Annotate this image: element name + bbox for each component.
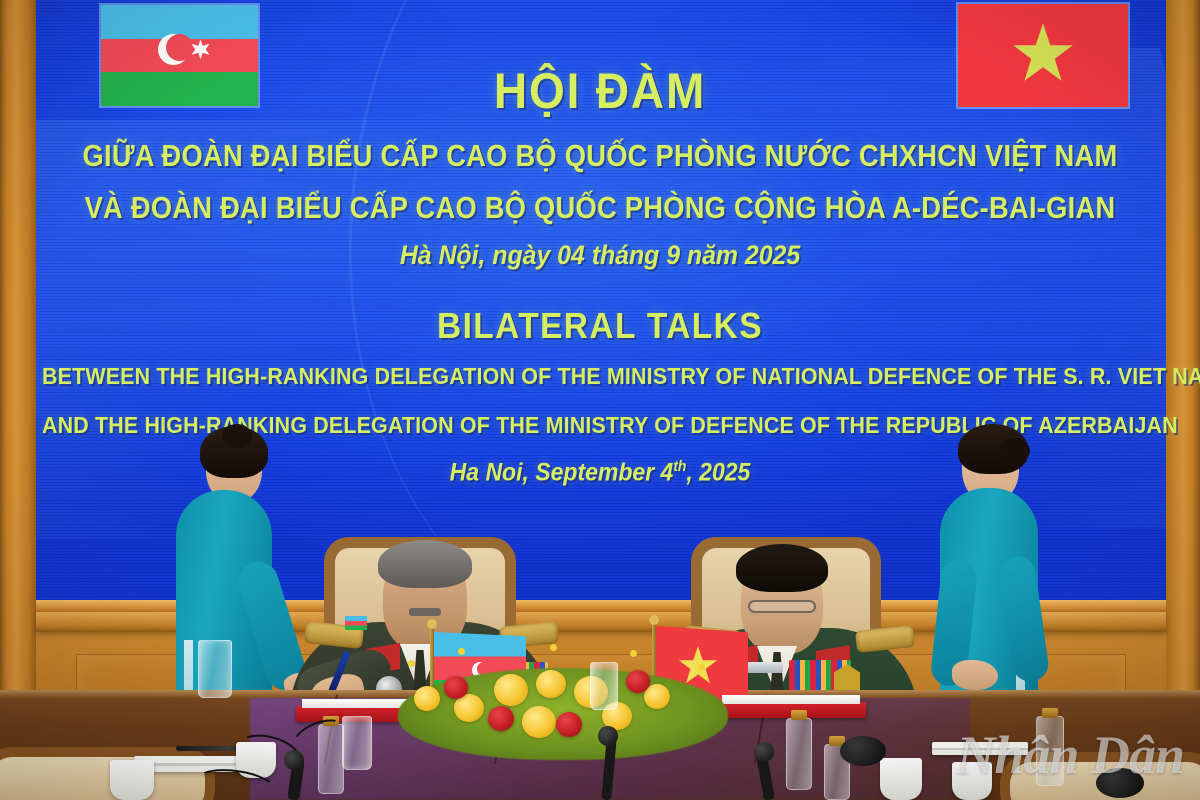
yellow-rose xyxy=(536,670,566,698)
hostess-right-hands xyxy=(952,660,998,690)
az-minister-flag-patch xyxy=(345,616,367,630)
banner-title-vietnamese: HỘI ĐÀM xyxy=(48,62,1152,120)
banner-date-vietnamese: Hà Nội, ngày 04 tháng 9 năm 2025 xyxy=(48,240,1152,271)
hostess-left-bun xyxy=(222,424,252,448)
water-glass xyxy=(198,640,232,698)
flower-sprig xyxy=(408,660,415,667)
headphone-earcup xyxy=(840,736,886,766)
vn-minister-hair xyxy=(736,544,828,592)
microphone-head xyxy=(754,742,774,762)
bottle-cap xyxy=(1042,708,1058,718)
red-rose xyxy=(556,712,582,737)
az-minister-hair xyxy=(378,540,472,588)
publisher-watermark: Nhân Dân xyxy=(956,724,1184,786)
water-glass xyxy=(342,716,372,770)
water-glass xyxy=(590,662,618,710)
folder-paper xyxy=(722,695,860,704)
banner-title-english: BILATERAL TALKS xyxy=(42,305,1158,347)
yellow-rose xyxy=(522,706,556,738)
tea-cup xyxy=(880,758,922,800)
red-rose xyxy=(444,676,468,699)
banner-line-vietnamese-1: GIỮA ĐOÀN ĐẠI BIỂU CẤP CAO BỘ QUỐC PHÒNG… xyxy=(72,138,1128,174)
crescent-icon xyxy=(158,34,189,65)
hostess-right-bun xyxy=(1000,438,1030,464)
date-en-ordinal: th xyxy=(673,458,686,475)
wall-pillar-left xyxy=(0,0,36,800)
banner-line-english-1: BETWEEN THE HIGH-RANKING DELEGATION OF T… xyxy=(42,363,1158,390)
flower-centerpiece xyxy=(398,640,728,760)
microphone-head xyxy=(598,726,618,746)
flower-sprig xyxy=(550,644,557,651)
vn-minister-glasses xyxy=(748,600,816,613)
az-minister-moustache xyxy=(409,608,441,616)
red-rose xyxy=(626,670,650,693)
tea-cup xyxy=(110,760,154,800)
red-rose xyxy=(488,706,514,731)
flower-sprig xyxy=(630,650,637,657)
yellow-rose xyxy=(494,674,528,706)
wall-pillar-right xyxy=(1166,0,1200,800)
date-en-suffix: , 2025 xyxy=(686,458,750,486)
photo-scene: HỘI ĐÀM GIỮA ĐOÀN ĐẠI BIỂU CẤP CAO BỘ QU… xyxy=(0,0,1200,800)
bottle-cap xyxy=(791,710,807,720)
flower-sprig xyxy=(458,648,465,655)
water-bottle xyxy=(786,718,812,790)
flower-sprig xyxy=(698,664,705,671)
yellow-rose xyxy=(414,686,440,711)
banner-line-vietnamese-2: VÀ ĐOÀN ĐẠI BIỂU CẤP CAO BỘ QUỐC PHÒNG C… xyxy=(72,190,1128,226)
date-en-prefix: Ha Noi, September 4 xyxy=(450,458,674,486)
